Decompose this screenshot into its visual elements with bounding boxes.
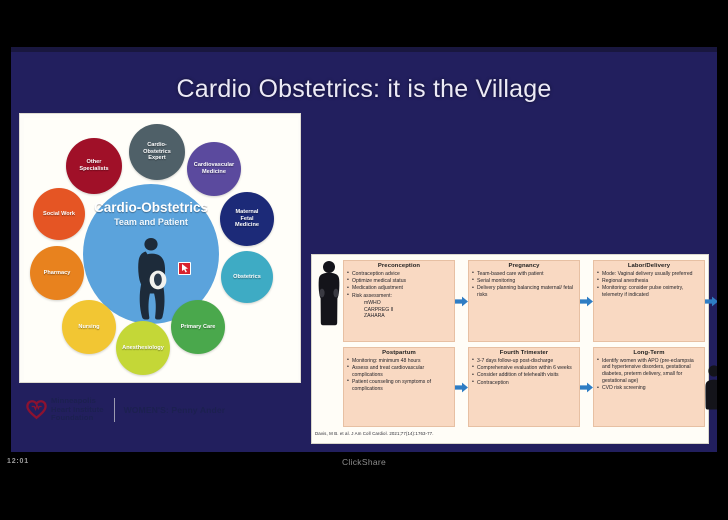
heart-outline-icon [25,399,48,420]
list-item: Identify women with APO (pre-eclampsia a… [597,358,701,385]
arrow-cell [455,347,468,427]
flow-box-items: Identify women with APO (pre-eclampsia a… [597,358,701,392]
list-item: Assess and treat cardiovascular complica… [347,365,451,379]
flow-box-long-term: Long-Term Identify women with APO (pre-e… [593,347,705,427]
list-item: Mode: Vaginal delivery usually preferred [597,271,701,278]
family-icon-cell [705,347,717,427]
village-diagram: Cardio-Obstetrics Team and Patient Other… [24,118,298,380]
flow-box-items: Mode: Vaginal delivery usually preferred… [597,271,701,299]
flow-box-title: Pregnancy [472,263,576,269]
arrow-cell [705,260,717,342]
pregnant-woman-standing-icon [315,260,343,342]
list-item: Delivery planning balancing maternal/ fe… [472,285,576,299]
flow-box-fourth-trimester: Fourth Trimester 3-7 days follow-up post… [468,347,580,427]
flow-box-items: Team-based care with patient Serial moni… [472,271,576,299]
spoke-circle: Anesthesiology [116,321,170,375]
list-item: Consider addition of telehealth visits [472,372,576,379]
pointer-cursor-icon [178,262,191,275]
screen-share-viewer: Cardio Obstetrics: it is the Village Car… [0,0,728,520]
arrow-cell [580,347,593,427]
list-item: Patient counseling on symptoms of compli… [347,379,451,393]
flow-box-pregnancy: Pregnancy Team-based care with patient S… [468,260,580,342]
list-item: Serial monitoring [472,278,576,285]
row2-spacer [315,347,343,427]
arrow-cell [580,260,593,342]
flow-box-labor-delivery: Labor/Delivery Mode: Vaginal delivery us… [593,260,705,342]
flow-box-title: Long-Term [597,350,701,356]
hub-label: Cardio-Obstetrics [83,201,219,215]
flow-box-title: Fourth Trimester [472,350,576,356]
footer-divider [114,398,115,422]
right-arrow-icon [455,382,468,393]
care-pathway-flowchart: Preconception Contraception advice Optim… [311,254,709,444]
list-item: Medication adjustment [347,285,451,292]
pregnant-woman-silhouette-icon [128,236,174,322]
flow-box-items: Contraception advice Optimize medical st… [347,271,451,321]
flow-box-items: 3-7 days follow-up post-discharge Compre… [472,358,576,387]
spoke-circle: MaternalFetalMedicine [220,192,274,246]
flow-box-postpartum: Postpartum Monitoring: minimum 48 hours … [343,347,455,427]
right-arrow-icon [705,296,717,307]
spoke-circle: Nursing [62,300,116,354]
right-arrow-icon [455,296,468,307]
flow-box-title: Postpartum [347,350,451,356]
spoke-circle: CardiovascularMedicine [187,142,241,196]
list-item: Contraception advice [347,271,451,278]
spoke-circle: Obstetrics [221,251,273,303]
arrow-cell [455,260,468,342]
presenter-label: WOMEN'S: Penny Ander [124,405,226,415]
status-bar: 12:01 ClickShare [0,452,728,520]
village-diagram-card: Cardio-Obstetrics Team and Patient Other… [19,113,301,383]
family-group-icon [705,362,717,412]
right-arrow-icon [580,296,593,307]
flow-box-title: Labor/Delivery [597,263,701,269]
flow-box-items: Monitoring: minimum 48 hours Assess and … [347,358,451,393]
mhif-logo: Minneapolis Heart Institute Foundation [25,397,104,424]
list-item: Comprehensive evaluation within 6 weeks [472,365,576,372]
hub-sublabel: Team and Patient [83,217,219,227]
mhif-line-3: Foundation [51,414,104,423]
list-item: CVD risk screening [597,385,701,392]
mhif-logo-text: Minneapolis Heart Institute Foundation [51,397,104,424]
page-title: Cardio Obstetrics: it is the Village [11,75,717,104]
list-item: Monitoring: minimum 48 hours [347,358,451,365]
list-item: 3-7 days follow-up post-discharge [472,358,576,365]
flow-box-preconception: Preconception Contraception advice Optim… [343,260,455,342]
flow-box-title: Preconception [347,263,451,269]
citation-text: Davis, M B. et al. J Am Coll Cardiol. 20… [315,431,434,436]
right-arrow-icon [580,382,593,393]
list-subitem: mWHO [347,300,451,307]
spoke-circle: Social Work [33,188,85,240]
presentation-slide: Cardio Obstetrics: it is the Village Car… [11,47,717,452]
spoke-circle: Cardio-ObstetricsExpert [129,124,185,180]
slide-footer: Minneapolis Heart Institute Foundation W… [25,392,303,428]
list-subitem: CARPREG II [347,307,451,314]
list-item: Monitoring: consider pulse oximetry, tel… [597,285,701,299]
list-item: Risk assessment: [347,293,451,300]
flowchart-row: Postpartum Monitoring: minimum 48 hours … [312,347,708,427]
list-item: Regional anesthesia [597,278,701,285]
list-item: Optimize medical status [347,278,451,285]
spoke-circle: Pharmacy [30,246,84,300]
share-source-label: ClickShare [0,457,728,467]
spoke-circle: Primary Care [171,300,225,354]
spoke-circle: OtherSpecialists [66,138,122,194]
flowchart-row: Preconception Contraception advice Optim… [312,260,708,342]
list-item: Contraception [472,380,576,387]
list-subitem: ZAHARA [347,313,451,320]
list-item: Team-based care with patient [472,271,576,278]
